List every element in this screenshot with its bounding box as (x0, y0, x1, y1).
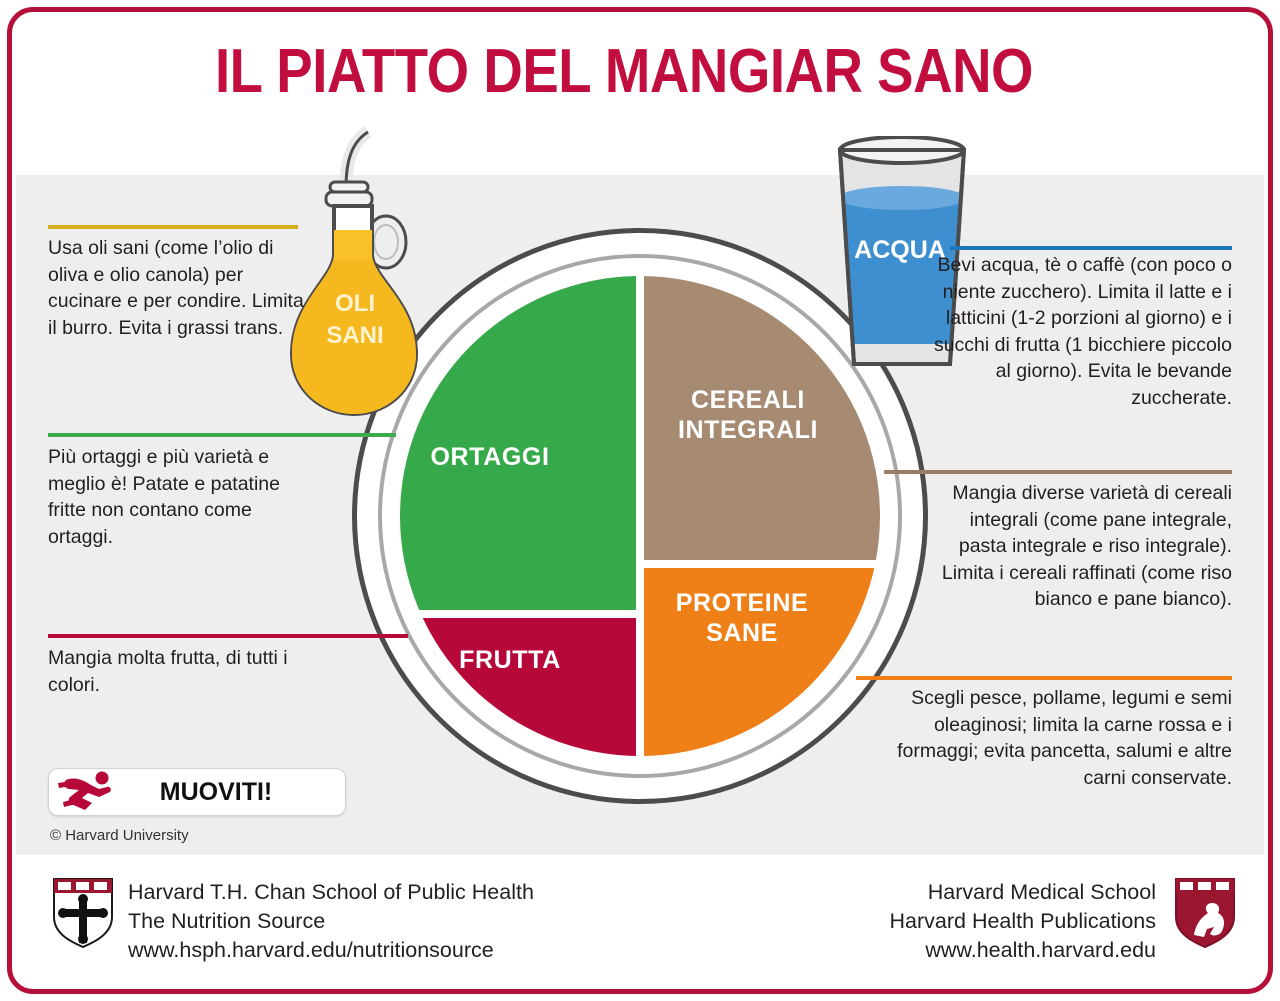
plate-food-area (400, 276, 880, 756)
plate-label-grains: CEREALI INTEGRALI (648, 385, 848, 445)
plate-label-protein-line2: SANE (652, 618, 832, 648)
footer-left-line3: www.hsph.harvard.edu/nutritionsource (128, 936, 534, 965)
footer-left-line2: The Nutrition Source (128, 907, 534, 936)
footer-right-line1: Harvard Medical School (890, 878, 1157, 907)
callout-text-water: Bevi acqua, tè o caffè (con poco o nient… (928, 252, 1232, 411)
plate-label-protein: PROTEINE SANE (652, 588, 832, 648)
plate-label-grains-line1: CEREALI (648, 385, 848, 415)
callout-rule-protein (872, 676, 1232, 680)
callout-text-oils: Usa oli sani (come l’olio di oliva e oli… (48, 235, 316, 341)
plate-segment-fruit (400, 618, 636, 756)
plate-label-fruit: FRUTTA (430, 645, 590, 675)
plate-label-protein-line1: PROTEINE (652, 588, 832, 618)
move-button-label: MUOVITI! (127, 778, 345, 807)
footer-left-line1: Harvard T.H. Chan School of Public Healt… (128, 878, 534, 907)
copyright-text: © Harvard University (50, 827, 189, 844)
oil-label-line2: SANI (300, 320, 410, 352)
plate-label-grains-line2: INTEGRALI (648, 415, 848, 445)
callout-rule-vegetables (48, 433, 396, 437)
callout-text-grains: Mangia diverse varietà di cereali integr… (930, 480, 1232, 613)
footer-right-line2: Harvard Health Publications (890, 907, 1157, 936)
oil-bottle-label: OLI SANI (300, 288, 410, 352)
healthy-eating-plate-poster: IL PIATTO DEL MANGIAR SANO ORTAGGI CEREA… (0, 0, 1280, 1001)
callout-rule-grains (884, 470, 1232, 474)
page-title: IL PIATTO DEL MANGIAR SANO (75, 36, 1173, 107)
callout-text-protein: Scegli pesce, pollame, legumi e semi ole… (880, 685, 1232, 791)
callout-text-fruit: Mangia molta frutta, di tutti i colori. (48, 645, 310, 698)
callout-rule-oils (48, 225, 298, 229)
footer-right-line3: www.health.harvard.edu (890, 936, 1157, 965)
callout-rule-water (950, 246, 1232, 250)
plate-label-vegetables: ORTAGGI (400, 442, 580, 472)
harvard-chan-shield-icon (52, 877, 114, 949)
oil-label-line1: OLI (300, 288, 410, 320)
callout-rule-fruit (48, 634, 408, 638)
move-button[interactable]: MUOVITI! (48, 768, 346, 816)
running-figure-icon (55, 771, 127, 813)
harvard-medical-shield-icon (1174, 877, 1236, 949)
footer-left-text: Harvard T.H. Chan School of Public Healt… (128, 878, 534, 965)
footer-right-text: Harvard Medical School Harvard Health Pu… (890, 878, 1157, 965)
callout-text-vegetables: Più ortaggi e più varietà e meglio è! Pa… (48, 444, 320, 550)
